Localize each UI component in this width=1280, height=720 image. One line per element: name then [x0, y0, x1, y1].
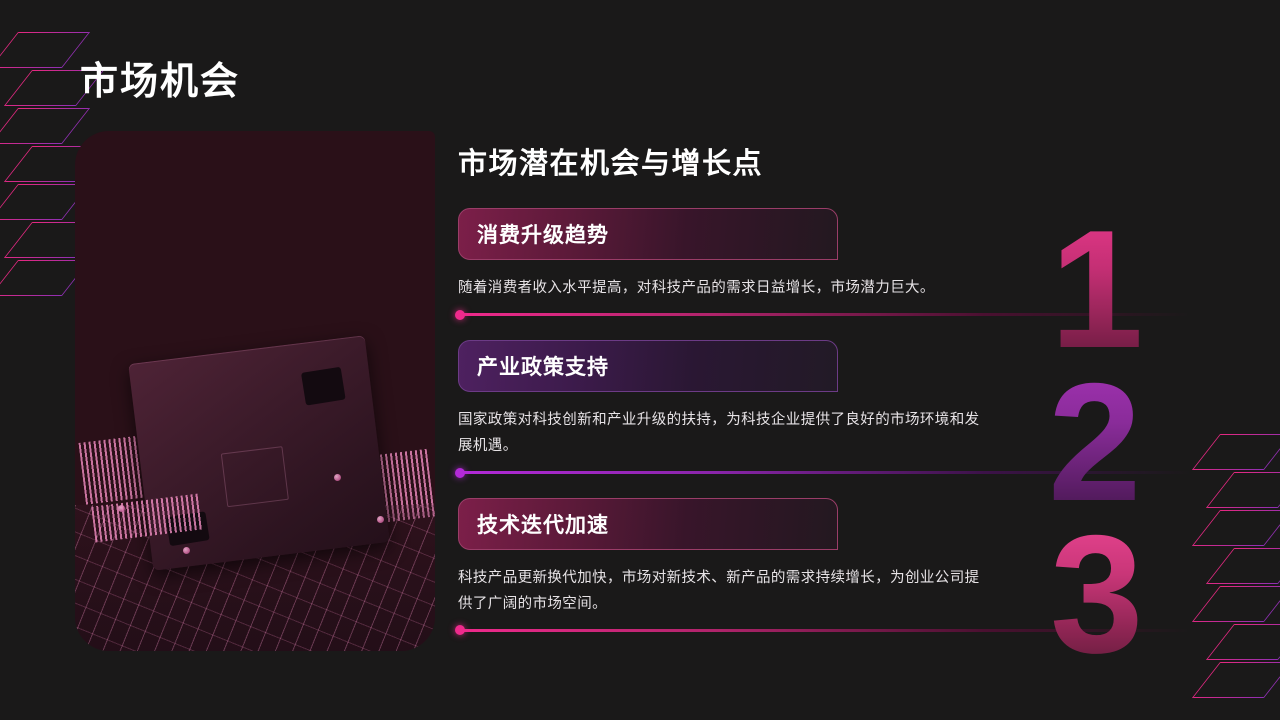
stripe-bar — [0, 32, 90, 68]
stripe-bar — [1192, 662, 1280, 698]
chip-label — [220, 446, 288, 507]
item-3-title: 技术迭代加速 — [477, 509, 609, 539]
section-title: 市场潜在机会与增长点 — [458, 140, 1218, 182]
divider-dot — [455, 625, 465, 635]
item-1-description: 随着消费者收入水平提高，对科技产品的需求日益增长，市场潜力巨大。 — [458, 276, 988, 301]
item-2-title-bar[interactable]: 产业政策支持 — [458, 340, 838, 392]
circuit-board-photo — [75, 131, 435, 651]
divider-dot — [455, 468, 465, 478]
item-3-number: 3 — [1050, 510, 1141, 678]
cpu-chip — [128, 336, 389, 571]
item-3-title-bar[interactable]: 技术迭代加速 — [458, 498, 838, 550]
item-3-description: 科技产品更新换代加快，市场对新技术、新产品的需求持续增长，为创业公司提供了广阔的… — [458, 566, 988, 617]
page-title: 市场机会 — [80, 50, 240, 105]
solder-dot — [183, 547, 190, 554]
item-1-title-bar[interactable]: 消费升级趋势 — [458, 208, 838, 260]
item-2-description: 国家政策对科技创新和产业升级的扶持，为科技企业提供了良好的市场环境和发展机遇。 — [458, 408, 988, 459]
item-1-title: 消费升级趋势 — [477, 219, 609, 249]
slide-root: 市场机会 市场潜在机会与增长点 消费升级趋势 随着消费者收入水平提高，对科技产品… — [0, 0, 1280, 720]
divider-dot — [455, 310, 465, 320]
item-2-title: 产业政策支持 — [477, 351, 609, 381]
